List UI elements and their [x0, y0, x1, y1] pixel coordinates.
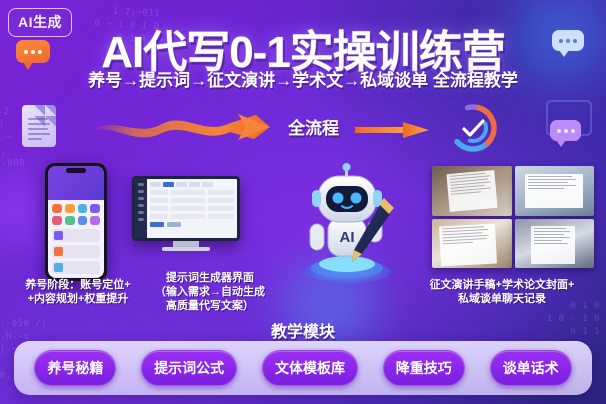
swoosh-arrow-icon [88, 112, 272, 142]
desktop-monitor-mockup [132, 176, 240, 248]
caption-phone: 养号阶段：账号定位+ +内容规划+权重提升 [4, 278, 152, 306]
modules-panel: 养号秘籍 提示词公式 文体模板库 降重技巧 谈单话术 [14, 341, 592, 395]
page-subtitle: 养号→提示词→征文演讲→学术文→私域谈单 全流程教学 [0, 66, 606, 91]
caption-photos: 征文演讲手稿+学术论文封面+ 私域谈单聊天记录 [400, 278, 604, 306]
module-pill-4[interactable]: 谈单话术 [490, 350, 572, 386]
caption-line: 养号阶段：账号定位+ [4, 278, 152, 292]
robot-chest-label: AI [340, 229, 355, 246]
photo-manuscript-in-hand [432, 166, 512, 216]
modules-section-title: 教学模块 [0, 318, 606, 342]
caption-line: 征文演讲手稿+学术论文封面+ [400, 278, 604, 292]
purple-speech-bubble-icon [550, 120, 581, 141]
phone-screen [48, 166, 104, 278]
photo-document-on-screen [515, 166, 595, 216]
photo-clipboard-laptop [515, 219, 595, 269]
admin-tabs [150, 182, 234, 187]
module-pill-2[interactable]: 文体模板库 [262, 350, 358, 386]
caption-line: （输入需求→自动生成 [148, 285, 272, 299]
caption-monitor: 提示词生成器界面 （输入需求→自动生成 高质量代写文案） [148, 271, 272, 313]
module-pill-1[interactable]: 提示词公式 [141, 350, 237, 386]
photo-printed-paper-desk [432, 219, 512, 269]
bubble-dots [550, 120, 581, 141]
caption-line: 私域谈单聊天记录 [400, 292, 604, 306]
admin-content [147, 179, 237, 238]
module-pill-3[interactable]: 降重技巧 [383, 350, 465, 386]
caption-line: +内容规划+权重提升 [4, 292, 152, 306]
admin-sidebar [135, 179, 147, 238]
ai-robot-mascot: AI [288, 162, 406, 286]
progress-ring-check-icon [445, 100, 501, 156]
caption-line: 高质量代写文案） [148, 299, 272, 313]
phone-mockup [45, 163, 107, 281]
document-icon [22, 105, 56, 147]
arrow-right-icon [355, 122, 429, 138]
promo-poster: R0-2 "D) /|-¬ (-, 0.-000 1 7;¬011 0 ¬ 1 … [0, 0, 606, 404]
caption-line: 提示词生成器界面 [148, 271, 272, 285]
monitor-base [162, 247, 210, 251]
phone-list [48, 227, 104, 278]
photo-collage [432, 166, 594, 268]
flow-label: 全流程 [288, 114, 339, 139]
phone-icon-grid [48, 200, 104, 227]
module-pill-0[interactable]: 养号秘籍 [34, 350, 116, 386]
phone-notch [66, 168, 86, 173]
monitor-screen [132, 176, 240, 241]
